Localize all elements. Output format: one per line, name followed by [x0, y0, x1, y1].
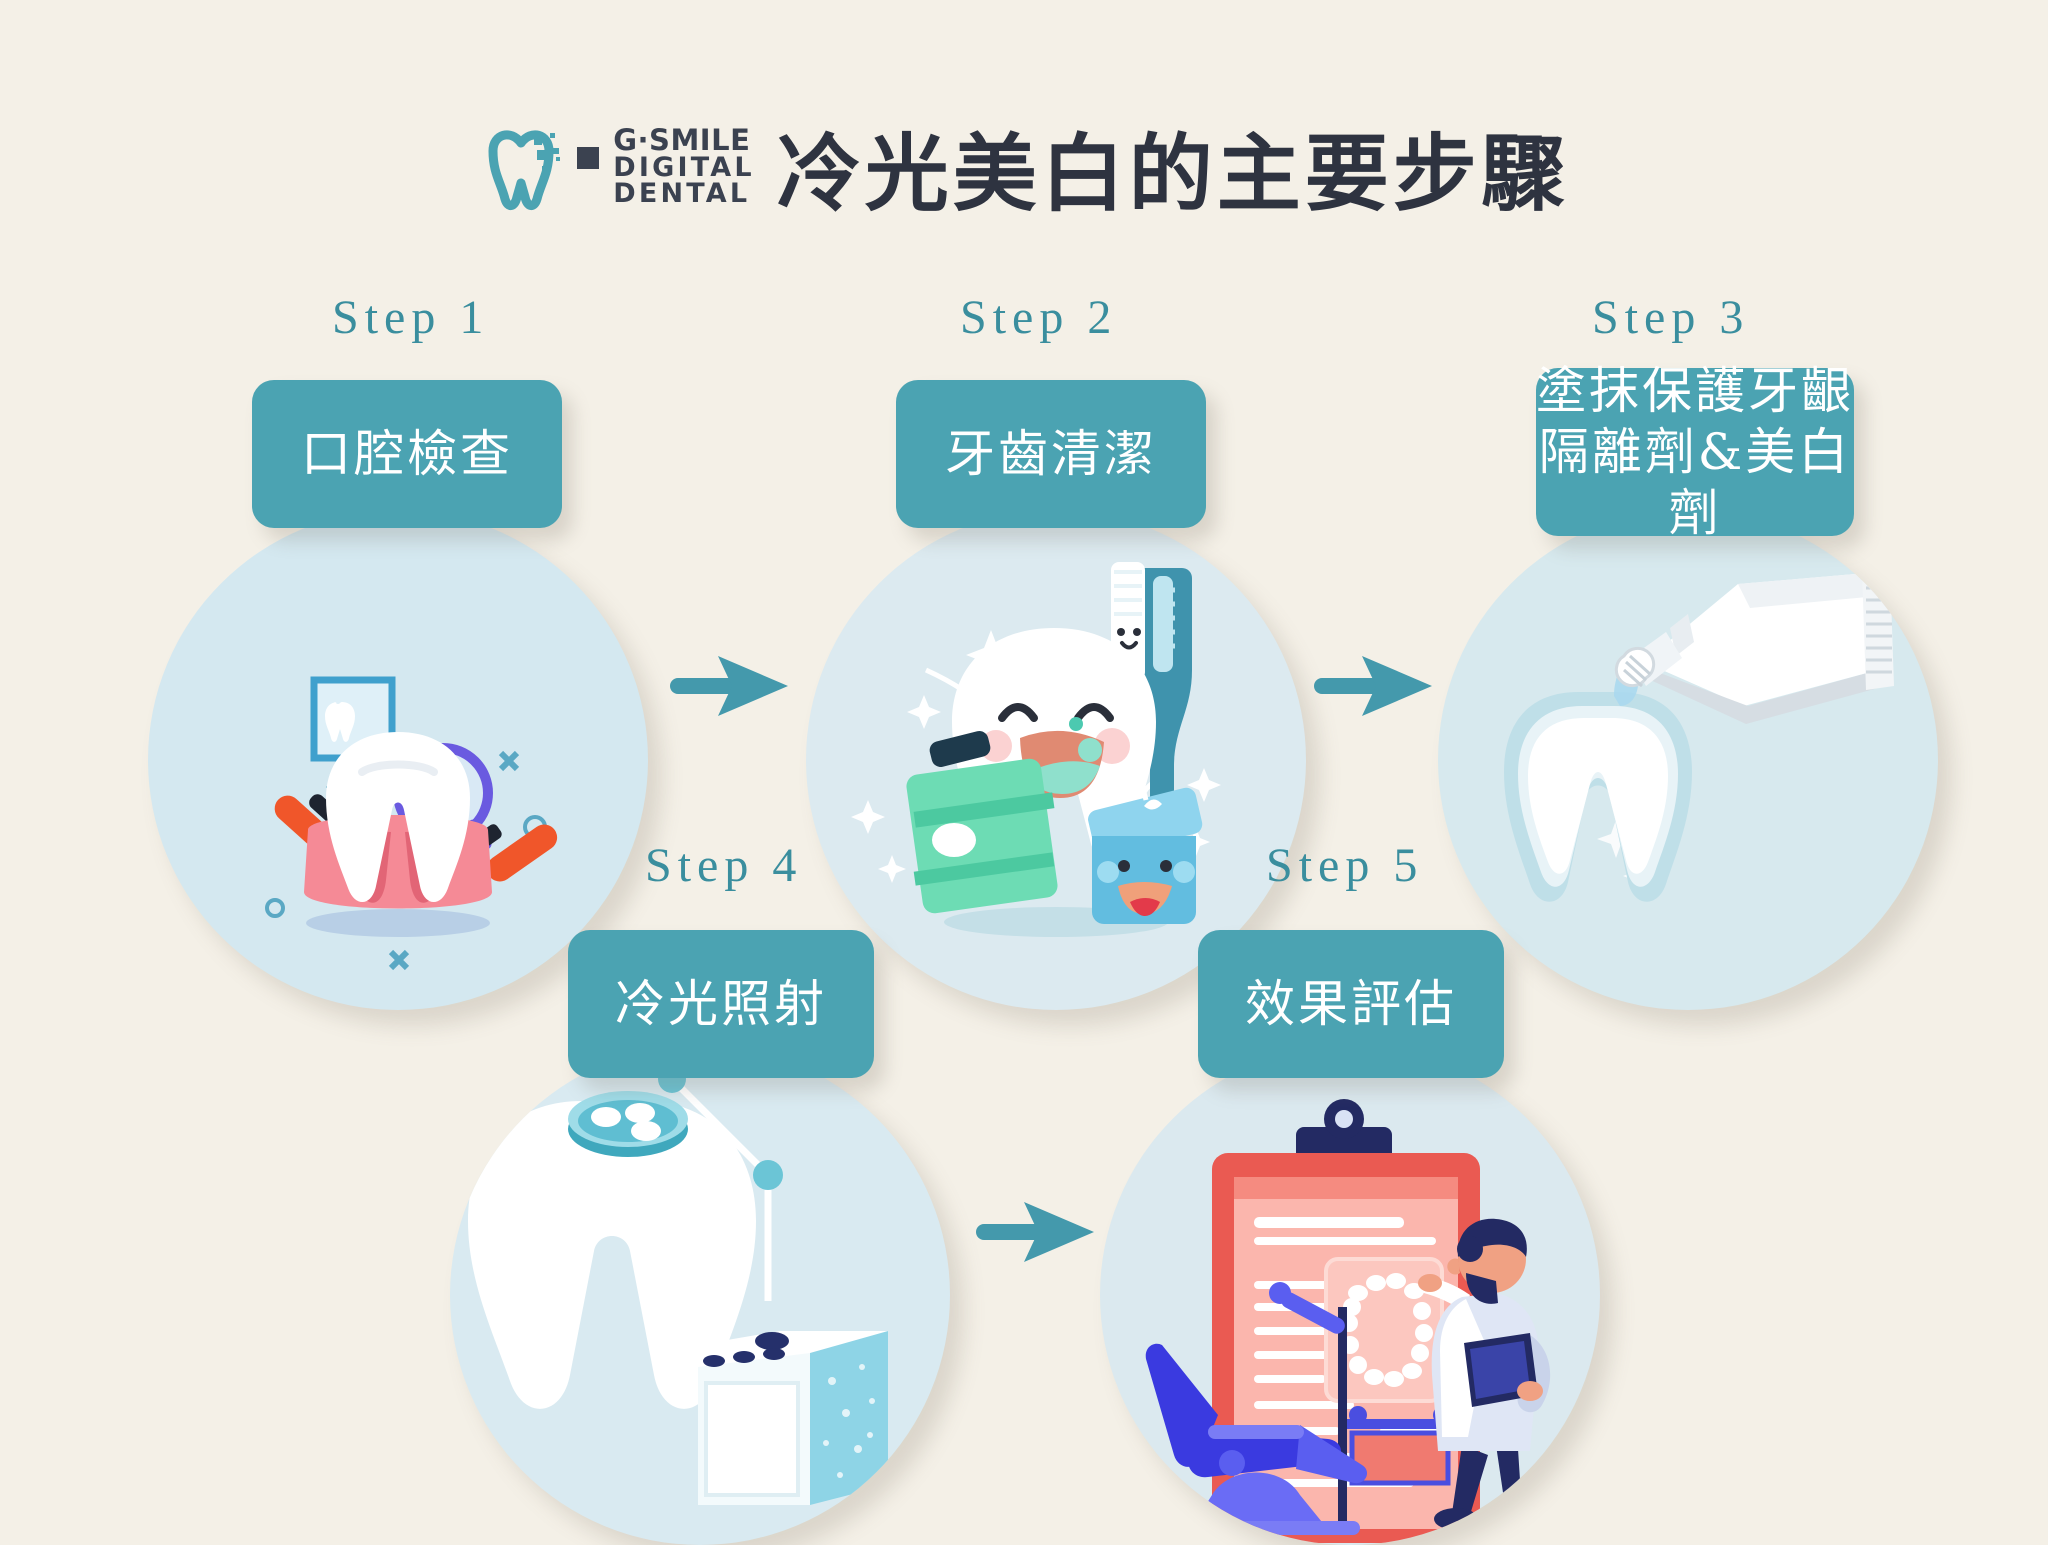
page-title: 冷光美白的主要步驟 [777, 107, 1569, 228]
tooth-heart-pixel-icon [479, 121, 563, 213]
step-chip-5[interactable]: 效果評估 [1198, 930, 1504, 1078]
step-chip-1-line-1: 口腔檢查 [301, 424, 513, 485]
arrow-right-icon [1310, 646, 1440, 726]
brand-wordmark: G·SMILE DIGITAL DENTAL [613, 126, 755, 207]
brand-line-3: DENTAL [613, 181, 755, 207]
step-label-5: Step 5 [1266, 838, 1423, 893]
brand-square-icon [577, 147, 599, 169]
step-circle-3 [1438, 510, 1938, 1010]
large-tooth-with-dental-lamp-and-led-machine-icon [450, 1045, 950, 1545]
dentist-with-clipboard-chart-and-dental-chair-icon [1100, 1045, 1600, 1545]
step-circle-1 [148, 510, 648, 1010]
tooth-gum-with-dental-probe-mirror-and-xray-icon [148, 510, 648, 1010]
brand-line-1: G·SMILE [613, 126, 755, 154]
step-chip-2[interactable]: 牙齒清潔 [896, 380, 1206, 528]
step-label-2: Step 2 [960, 290, 1117, 345]
header: G·SMILE DIGITAL DENTAL 冷光美白的主要步驟 [0, 112, 2048, 222]
step-chip-4[interactable]: 冷光照射 [568, 930, 874, 1078]
step-circle-5 [1100, 1045, 1600, 1545]
arrow-step4-step5 [972, 1192, 1102, 1272]
arrow-right-icon [666, 646, 796, 726]
arrow-step1-step2 [666, 646, 796, 726]
infographic-canvas: G·SMILE DIGITAL DENTAL 冷光美白的主要步驟 Step 1 [0, 0, 2048, 1544]
step-label-3: Step 3 [1592, 290, 1749, 345]
toothpaste-tube-applying-gel-to-tooth-icon [1438, 510, 1938, 1010]
step-chip-4-line-1: 冷光照射 [615, 974, 827, 1035]
arrow-right-icon [972, 1192, 1102, 1272]
step-label-1: Step 1 [332, 290, 489, 345]
step-chip-3-line-1: 塗抹保護牙齦 [1536, 361, 1854, 422]
step-chip-1[interactable]: 口腔檢查 [252, 380, 562, 528]
brand-logo: G·SMILE DIGITAL DENTAL [479, 121, 755, 213]
step-chip-5-line-1: 效果評估 [1245, 974, 1457, 1035]
step-label-4: Step 4 [645, 838, 802, 893]
step-circle-4 [450, 1045, 950, 1545]
arrow-step2-step3 [1310, 646, 1440, 726]
step-chip-3[interactable]: 塗抹保護牙齦 隔離劑&美白劑 [1536, 368, 1854, 536]
step-chip-3-line-2: 隔離劑&美白劑 [1536, 422, 1854, 544]
step-chip-2-line-1: 牙齒清潔 [945, 424, 1157, 485]
